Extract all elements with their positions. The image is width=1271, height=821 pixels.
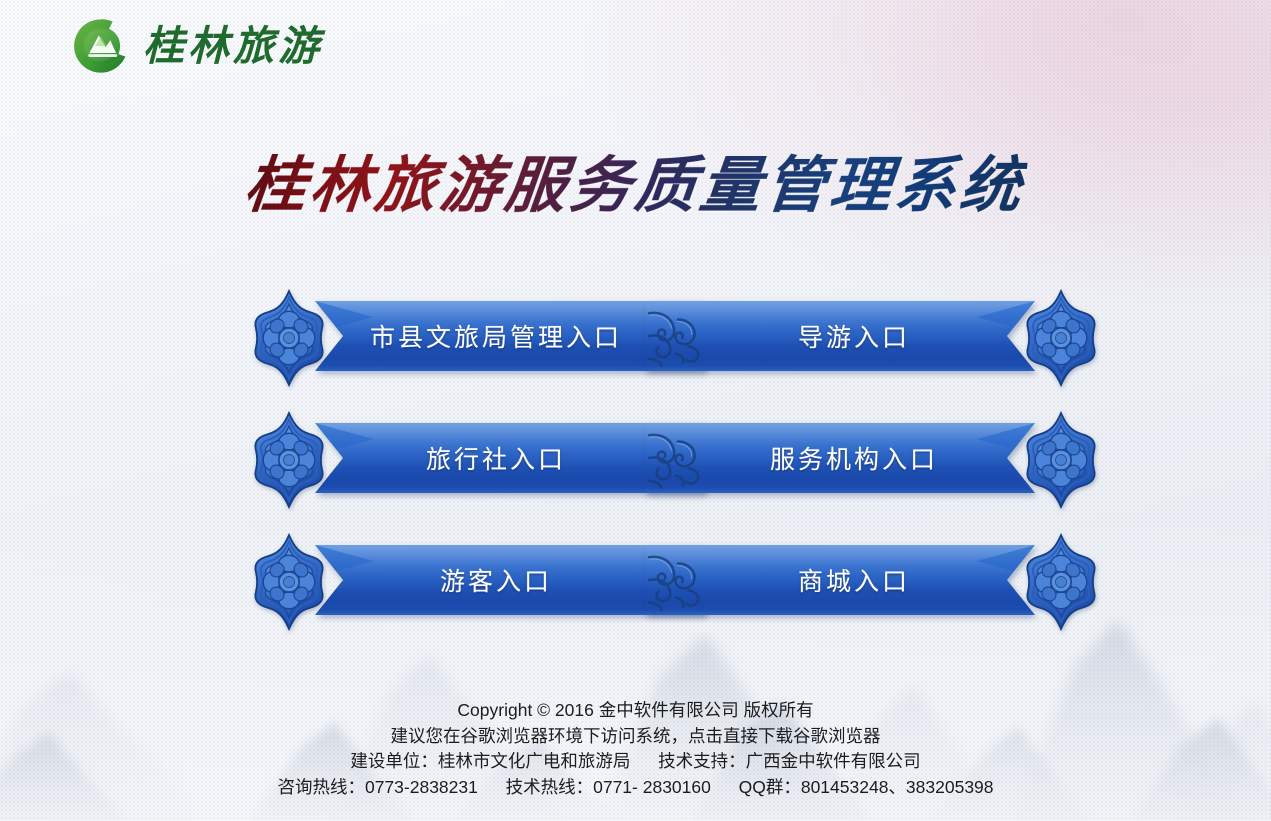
logo-text: 桂林旅游 [143,26,323,67]
footer: Copyright © 2016 金中软件有限公司 版权所有 建议您在谷歌浏览器… [0,698,1271,800]
chinese-cloud-scroll-icon [647,427,709,489]
footer-tech-support: 技术支持：广西金中软件有限公司 [658,751,921,771]
guilin-tourism-circle-logo-icon [72,17,130,75]
entry-banner: 商城入口 [645,545,1035,615]
page-title-wrapper: 桂林旅游服务质量管理系统 [0,112,1271,262]
footer-qq-group: QQ群：801453248、383205398 [739,777,994,797]
site-logo[interactable]: 桂林旅游 [72,17,323,75]
entry-buttons-grid: 市县文旅局管理入口 导游入口 旅 [0,288,1271,654]
entry-button-tour-guide[interactable]: 导游入口 [645,288,1107,388]
entry-button-culture-tourism-bureau[interactable]: 市县文旅局管理入口 [243,288,705,388]
entry-row: 游客入口 商城入口 [0,532,1271,654]
entry-banner: 导游入口 [645,301,1035,371]
footer-builder: 建设单位：桂林市文化广电和旅游局 [350,751,630,771]
login-portal-page: 桂林旅游 桂林旅游服务质量管理系统 [0,0,1271,821]
chinese-cloud-scroll-icon [647,549,709,611]
chinese-cloud-scroll-icon [647,305,709,367]
footer-consult-hotline: 咨询热线：0773-2838231 [277,777,477,797]
download-chrome-link[interactable]: 建议您在谷歌浏览器环境下访问系统，点击直接下载谷歌浏览器 [391,726,881,746]
footer-contact-row: 咨询热线：0773-2838231 技术热线：0771- 2830160 QQ群… [0,775,1271,801]
entry-button-tourist[interactable]: 游客入口 [243,532,705,632]
footer-copyright: Copyright © 2016 金中软件有限公司 版权所有 [0,698,1271,724]
footer-tech-hotline: 技术热线：0771- 2830160 [506,777,711,797]
entry-button-service-organization[interactable]: 服务机构入口 [645,410,1107,510]
footer-builder-row: 建设单位：桂林市文化广电和旅游局 技术支持：广西金中软件有限公司 [0,749,1271,775]
entry-banner: 服务机构入口 [645,423,1035,493]
entry-button-mall[interactable]: 商城入口 [645,532,1107,632]
footer-browser-notice[interactable]: 建议您在谷歌浏览器环境下访问系统，点击直接下载谷歌浏览器 [0,724,1271,750]
page-title: 桂林旅游服务质量管理系统 [242,153,1029,221]
entry-row: 市县文旅局管理入口 导游入口 [0,288,1271,410]
entry-button-travel-agency[interactable]: 旅行社入口 [243,410,705,510]
entry-row: 旅行社入口 服务机构入口 [0,410,1271,532]
